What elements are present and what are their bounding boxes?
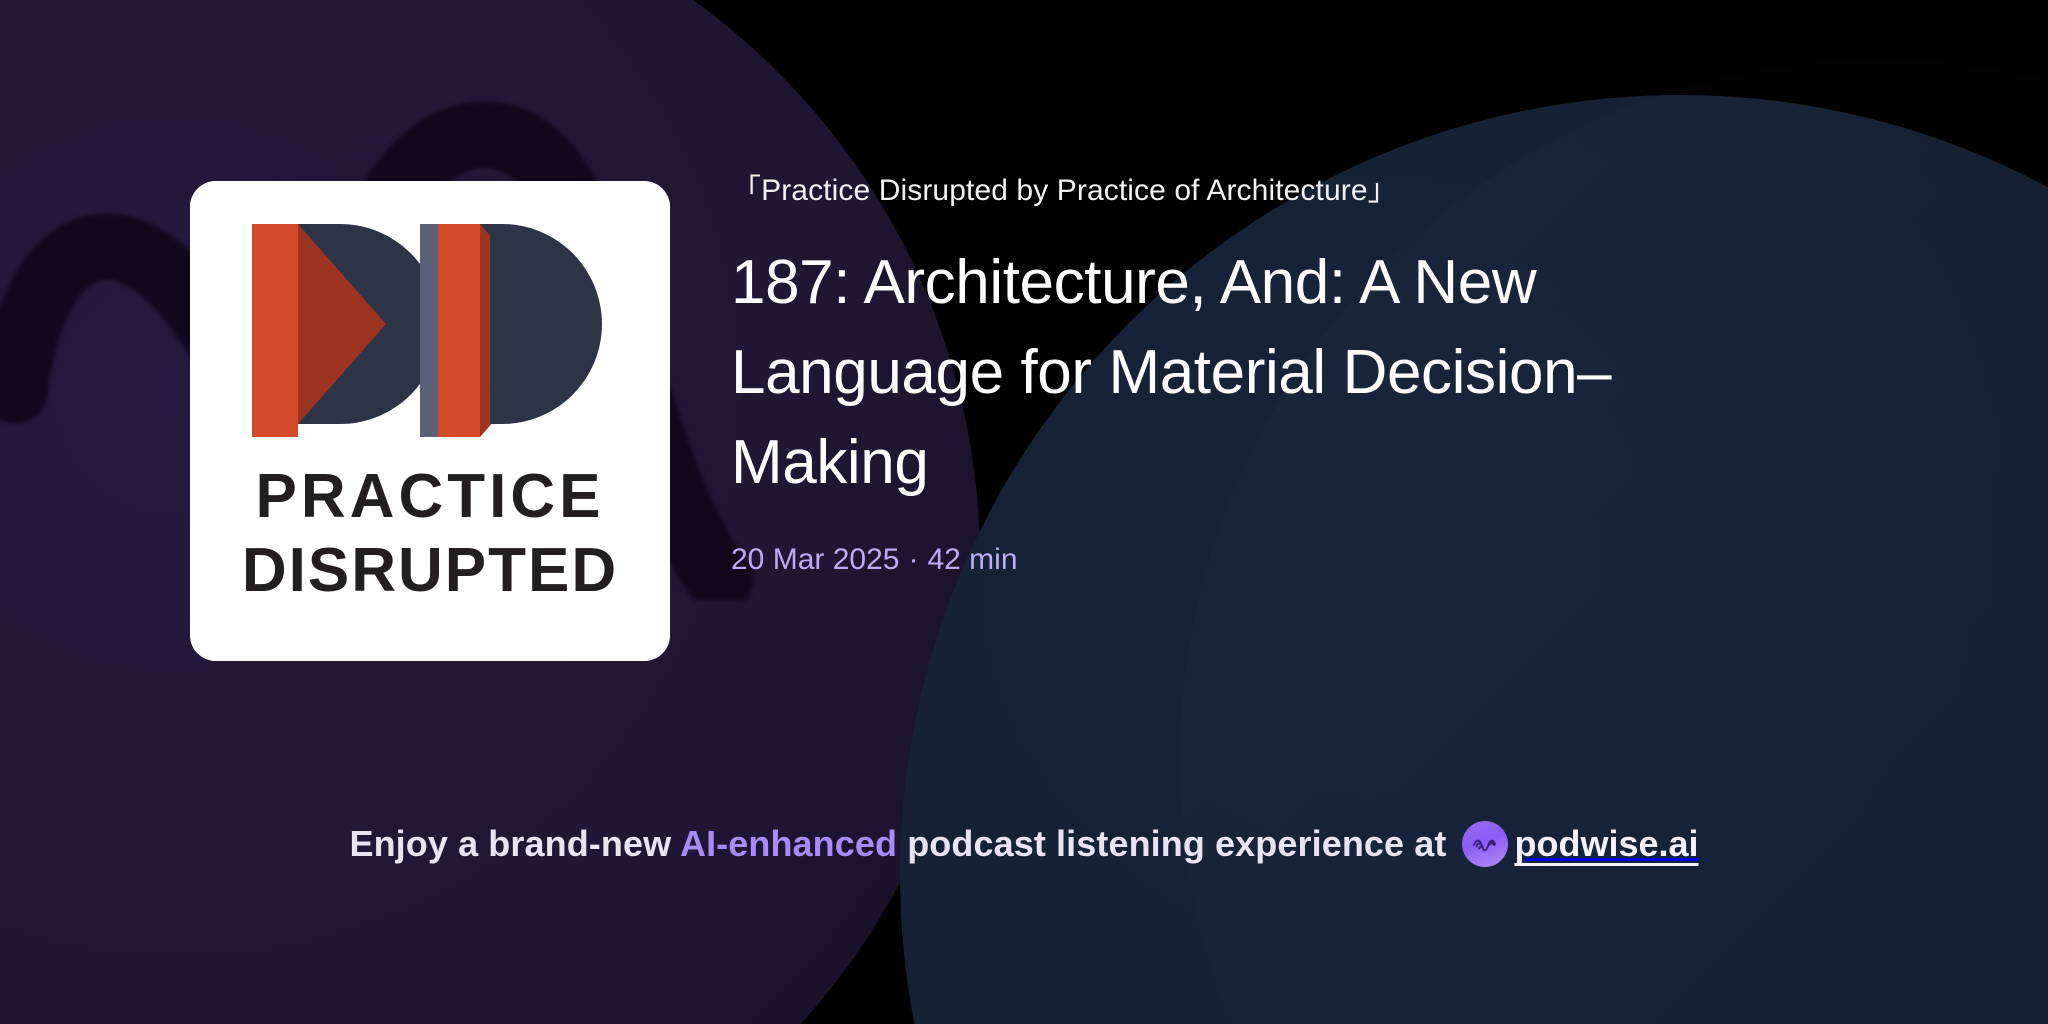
episode-duration: 42 min xyxy=(927,543,1017,576)
promo-text: Enjoy a brand-new AI-enhanced podcast li… xyxy=(349,822,1446,866)
cover-art-graphic: PRACTICE DISRUPTED xyxy=(190,181,670,661)
podwise-brand-link[interactable]: podwise.ai xyxy=(1462,821,1698,867)
podwise-url-text[interactable]: podwise.ai xyxy=(1514,822,1698,866)
podcast-share-card: PRACTICE DISRUPTED 「Practice Disrupted b… xyxy=(0,0,2048,1024)
episode-meta-line: 20 Mar 2025·42 min xyxy=(731,542,1891,578)
promo-banner: Enjoy a brand-new AI-enhanced podcast li… xyxy=(0,808,2048,880)
episode-info-column: 「Practice Disrupted by Practice of Archi… xyxy=(731,172,1891,578)
svg-text:DISRUPTED: DISRUPTED xyxy=(242,536,618,605)
svg-text:PRACTICE: PRACTICE xyxy=(256,462,605,531)
episode-title: 187: Architecture, And: A New Language f… xyxy=(731,238,1741,508)
promo-text-before: Enjoy a brand-new xyxy=(349,823,680,864)
promo-text-after: podcast listening experience at xyxy=(897,823,1446,864)
promo-accent-text: AI-enhanced xyxy=(680,823,897,864)
podwise-logo-icon xyxy=(1462,821,1508,867)
episode-date: 20 Mar 2025 xyxy=(731,543,899,576)
show-title: 「Practice Disrupted by Practice of Archi… xyxy=(731,172,1891,210)
podcast-cover-art[interactable]: PRACTICE DISRUPTED xyxy=(190,181,670,661)
meta-separator: · xyxy=(908,543,918,576)
